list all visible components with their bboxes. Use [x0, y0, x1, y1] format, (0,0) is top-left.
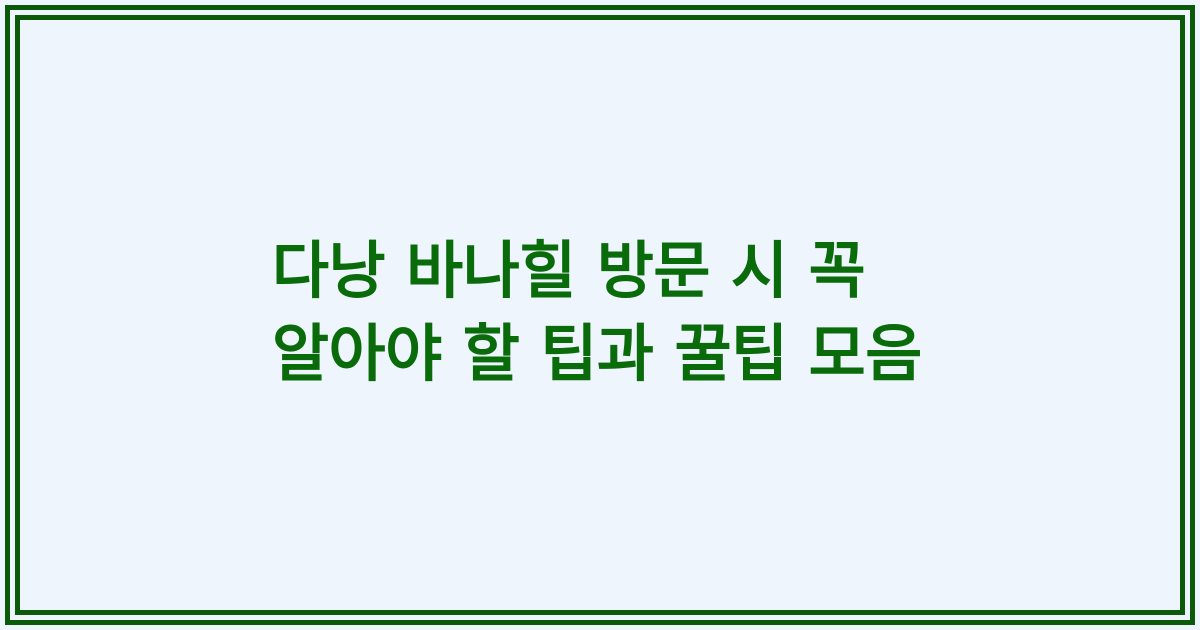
banner-content: 다낭 바나힐 방문 시 꼭 알아야 할 팁과 꿀팁 모음 [20, 229, 1180, 401]
banner-card: 다낭 바나힐 방문 시 꼭 알아야 할 팁과 꿀팁 모음 [0, 0, 1200, 630]
page-title: 다낭 바나힐 방문 시 꼭 알아야 할 팁과 꿀팁 모음 [272, 229, 962, 395]
inner-border-frame: 다낭 바나힐 방문 시 꼭 알아야 할 팁과 꿀팁 모음 [15, 15, 1185, 615]
outer-border-frame: 다낭 바나힐 방문 시 꼭 알아야 할 팁과 꿀팁 모음 [5, 5, 1195, 625]
